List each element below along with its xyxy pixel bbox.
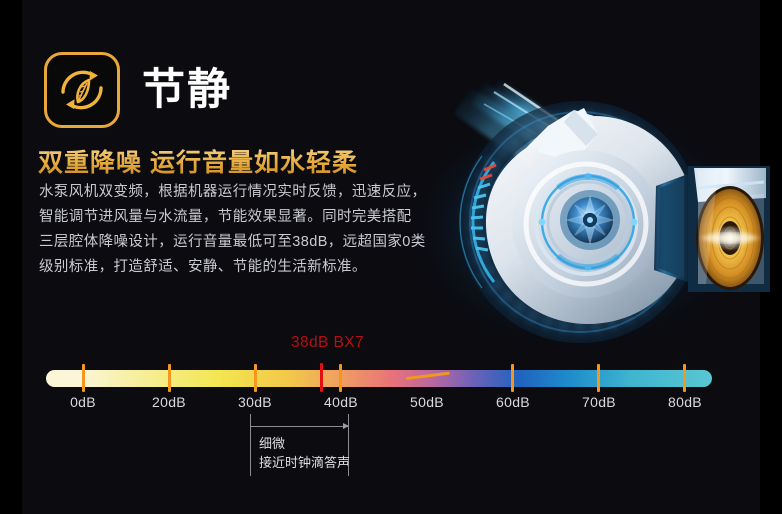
product-image: » » » » xyxy=(398,70,782,350)
section-subtitle: 双重降噪 运行音量如水轻柔 xyxy=(38,143,358,179)
page-title: 节静 xyxy=(142,69,232,112)
body-line: 智能调节进风量与水流量，节能效果显著。同时完美搭配 xyxy=(39,205,439,230)
body-line: 级别标准，打造舒适、安静、节能的生活新标准。 xyxy=(39,255,439,280)
section-header: 节静 xyxy=(44,52,232,128)
eco-recycle-leaf-icon xyxy=(44,52,120,128)
body-line: 水泵风机双变频，根据机器运行情况实时反馈，迅速反应， xyxy=(39,180,439,205)
promo-banner: » » » » xyxy=(0,0,782,514)
body-line: 三层腔体降噪设计，运行音量最低可至38dB，远超国家0类 xyxy=(39,230,439,255)
section-body: 水泵风机双变频，根据机器运行情况实时反馈，迅速反应， 智能调节进风量与水流量，节… xyxy=(39,180,439,280)
